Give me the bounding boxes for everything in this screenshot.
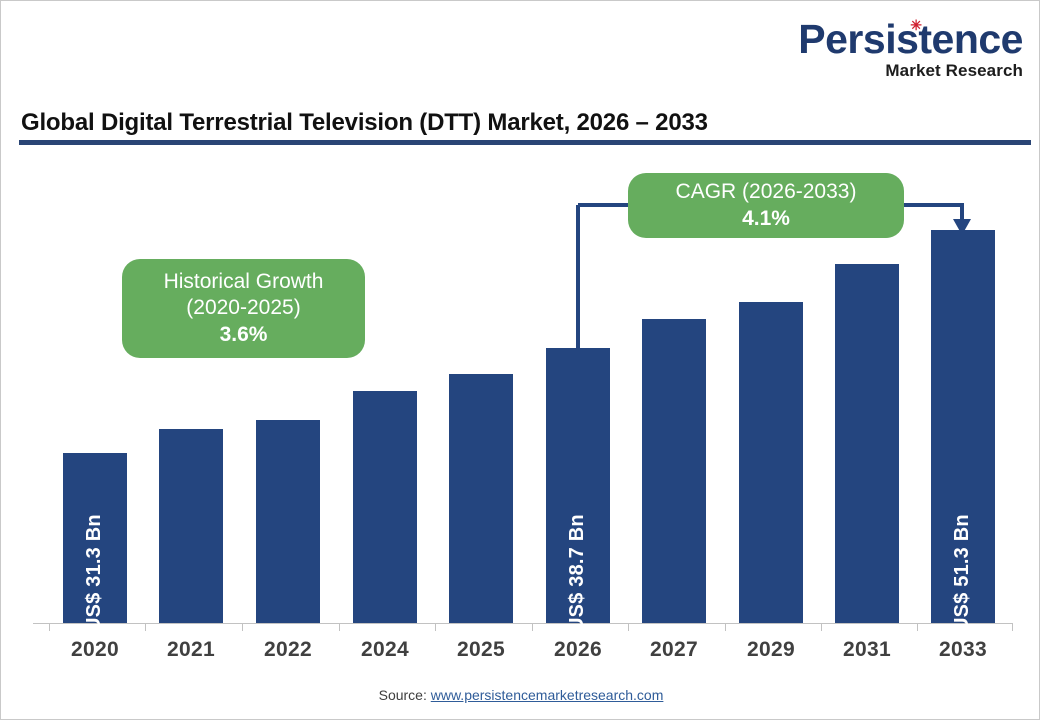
bar-value-label-2020: US$ 31.3 Bn [83,514,106,632]
x-axis-tick-2026 [532,623,533,631]
cagr-value: 4.1% [742,205,790,232]
x-axis-tick-2021 [145,623,146,631]
bar-2021 [159,429,223,623]
x-axis-tick-2020 [49,623,50,631]
x-axis-tick-2022 [242,623,243,631]
x-axis-tick-2027 [628,623,629,631]
x-axis-label-2033: 2033 [903,638,1023,662]
cagr-callout: CAGR (2026-2033) 4.1% [628,173,904,238]
x-axis-tick-2031 [821,623,822,631]
historical-growth-line1: Historical Growth [164,269,324,295]
bar-chart-plot-area: US$ 31.3 Bn20202021202220242025US$ 38.7 … [1,1,1040,720]
bar-value-label-2026: US$ 38.7 Bn [566,514,589,632]
historical-growth-line2: (2020-2025) [186,295,300,321]
x-axis-line [33,623,1013,624]
source-prefix: Source: [379,687,431,703]
source-link[interactable]: www.persistencemarketresearch.com [431,687,664,703]
bar-2022 [256,420,320,623]
historical-growth-value: 3.6% [220,321,268,348]
historical-growth-callout: Historical Growth (2020-2025) 3.6% [122,259,365,358]
bar-value-label-2033: US$ 51.3 Bn [951,514,974,632]
cagr-line1: CAGR (2026-2033) [676,179,857,205]
bar-2031 [835,264,899,623]
bar-2029 [739,302,803,623]
chart-infographic: Persistence ✳ Market Research Global Dig… [0,0,1040,720]
bar-2024 [353,391,417,623]
source-footer: Source: www.persistencemarketresearch.co… [1,687,1040,703]
bar-2027 [642,319,706,623]
x-axis-tick-end [1012,623,1013,631]
x-axis-tick-2024 [339,623,340,631]
x-axis-tick-2033 [917,623,918,631]
x-axis-tick-2025 [435,623,436,631]
bar-2025 [449,374,513,623]
x-axis-tick-2029 [725,623,726,631]
